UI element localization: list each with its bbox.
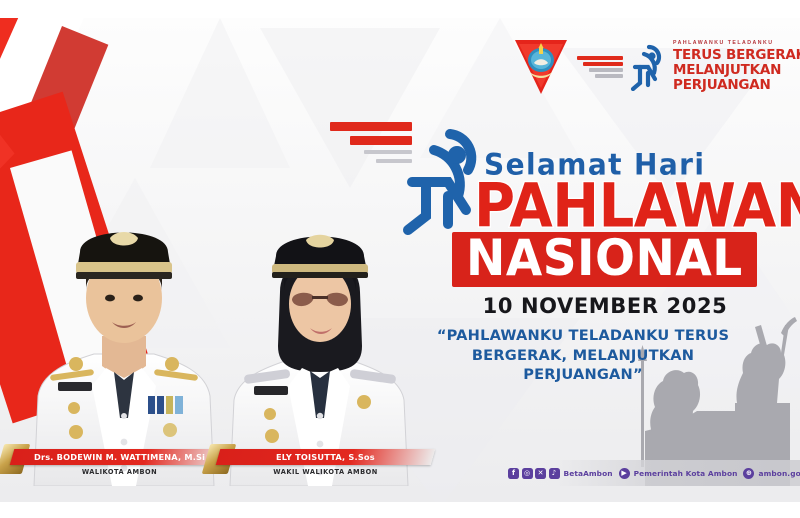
- official-title: WALIKOTA AMBON: [12, 468, 227, 476]
- official-name: Drs. BODEWIN M. WATTIMENA, M.Si: [34, 452, 205, 462]
- title-quote: “PAHLAWANKU TELADANKU TERUS BERGERAK, ME…: [418, 326, 748, 385]
- header-line-1: TERUS BERGERAK: [673, 48, 800, 63]
- footer-bar: f ◎ ✕ ♪ BetaAmbon ▶ Pemerintah Kota Ambo…: [498, 460, 800, 486]
- instagram-icon[interactable]: ◎: [522, 468, 533, 479]
- website-label: ambon.go.id: [758, 469, 800, 478]
- header-logo-row: PAHLAWANKU TELADANKU TERUS BERGERAK MELA…: [512, 36, 800, 98]
- website-group[interactable]: ⊕ ambon.go.id: [743, 468, 800, 479]
- official-photo-walikota: [24, 186, 224, 486]
- header-kicker: PAHLAWANKU TELADANKU: [673, 41, 800, 46]
- letterbox-bottom: [0, 502, 800, 518]
- speed-lines-icon: [577, 56, 623, 78]
- header-line-2: MELANJUTKAN: [673, 63, 800, 78]
- ambon-city-emblem-icon: [512, 36, 570, 98]
- header-slogan: PAHLAWANKU TELADANKU TERUS BERGERAK MELA…: [673, 41, 800, 94]
- youtube-group[interactable]: ▶ Pemerintah Kota Ambon: [619, 468, 738, 479]
- terus-bergerak-logomark: PAHLAWANKU TELADANKU TERUS BERGERAK MELA…: [577, 41, 800, 94]
- nameplate-walikota: Drs. BODEWIN M. WATTIMENA, M.Si WALIKOTA…: [12, 449, 227, 476]
- poster-canvas: PAHLAWANKU TELADANKU TERUS BERGERAK MELA…: [0, 18, 800, 502]
- title-date: 10 NOVEMBER 2025: [460, 294, 750, 318]
- nameplate-wakil-walikota: ELY TOISUTTA, S.Sos WAKIL WALIKOTA AMBON: [218, 449, 433, 476]
- youtube-icon[interactable]: ▶: [619, 468, 630, 479]
- title-sub: NASIONAL: [466, 234, 743, 284]
- official-title: WAKIL WALIKOTA AMBON: [218, 468, 433, 476]
- official-photo-wakil-walikota: [222, 196, 418, 486]
- letterbox-top: [0, 0, 800, 18]
- hero-poster: PAHLAWANKU TELADANKU TERUS BERGERAK MELA…: [0, 0, 800, 518]
- nameplate-band: Drs. BODEWIN M. WATTIMENA, M.Si: [10, 449, 230, 465]
- social-handle-label: BetaAmbon: [564, 469, 613, 478]
- tiktok-icon[interactable]: ♪: [549, 468, 560, 479]
- running-figure-icon: [627, 43, 667, 91]
- header-line-3: PERJUANGAN: [673, 78, 800, 93]
- social-media-group[interactable]: f ◎ ✕ ♪ BetaAmbon: [508, 468, 613, 479]
- globe-icon[interactable]: ⊕: [743, 468, 754, 479]
- twitter-x-icon[interactable]: ✕: [535, 468, 546, 479]
- facebook-icon[interactable]: f: [508, 468, 519, 479]
- nameplate-band: ELY TOISUTTA, S.Sos: [216, 449, 436, 465]
- title-sub-band: NASIONAL: [452, 232, 757, 287]
- youtube-label: Pemerintah Kota Ambon: [634, 469, 738, 478]
- official-name: ELY TOISUTTA, S.Sos: [276, 452, 375, 462]
